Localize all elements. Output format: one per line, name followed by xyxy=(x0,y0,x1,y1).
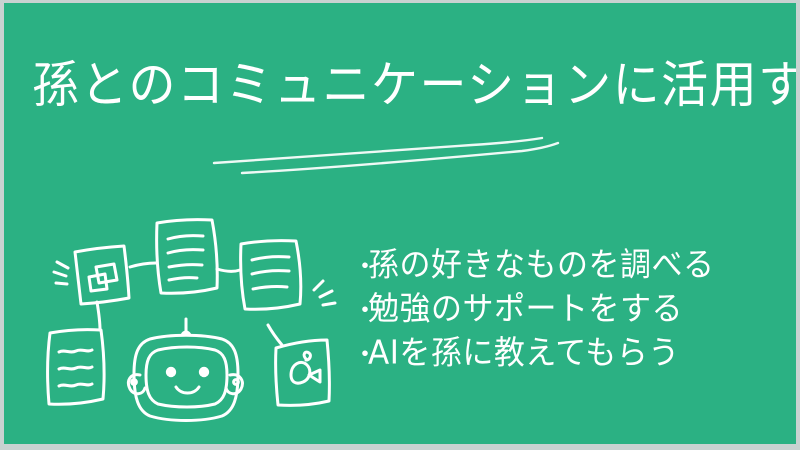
title-block: 孫とのコミュニケーションに活用する xyxy=(32,51,774,121)
bullet-text: 勉強のサポートをする xyxy=(368,286,683,332)
creature-body-icon xyxy=(291,362,310,383)
bullet-marker-icon: ・ xyxy=(352,333,368,377)
card-line xyxy=(253,287,287,289)
card-line xyxy=(252,257,289,260)
sparkle-left-icon xyxy=(54,262,68,284)
wavy-line xyxy=(59,367,92,369)
card-line xyxy=(168,236,203,239)
list-item: ・ 孫の好きなものを調べる xyxy=(352,243,792,287)
wavy-text-card xyxy=(48,330,104,405)
bullet-marker-icon: ・ xyxy=(352,289,368,333)
card-line xyxy=(169,278,197,280)
wavy-line xyxy=(59,350,92,352)
text-card-right xyxy=(241,241,301,310)
image-card xyxy=(75,246,129,304)
title-underline-doodle xyxy=(204,131,604,177)
robot-eye-left-icon xyxy=(166,367,176,377)
list-item: ・ 勉強のサポートをする xyxy=(352,287,792,331)
bullet-list: ・ 孫の好きなものを調べる ・ 勉強のサポートをする ・ AIを孫に教えてもらう xyxy=(352,243,792,375)
robot-with-documents-illustration xyxy=(44,209,344,425)
bullet-text: AIを孫に教えてもらう xyxy=(368,330,680,376)
smiling-robot-face xyxy=(128,321,242,421)
bullet-text: 孫の好きなものを調べる xyxy=(368,242,715,288)
bullet-marker-icon: ・ xyxy=(352,245,368,289)
robot-smile-icon xyxy=(176,387,199,393)
card-line xyxy=(168,250,203,253)
list-item: ・ AIを孫に教えてもらう xyxy=(352,331,792,375)
slide-frame: 孫とのコミュニケーションに活用する xyxy=(0,0,800,450)
robot-eye-right-icon xyxy=(199,367,209,377)
page-title: 孫とのコミュニケーションに活用する xyxy=(32,49,774,123)
slide-canvas: 孫とのコミュニケーションに活用する xyxy=(4,3,796,444)
text-card-center xyxy=(157,220,218,294)
sparkle-right-icon xyxy=(314,281,335,305)
card-line xyxy=(169,265,202,267)
creature-card xyxy=(276,340,330,405)
creature-head-icon xyxy=(304,352,310,360)
wavy-line xyxy=(59,384,92,386)
card-line xyxy=(252,271,289,274)
robot-face-plate xyxy=(146,347,227,407)
